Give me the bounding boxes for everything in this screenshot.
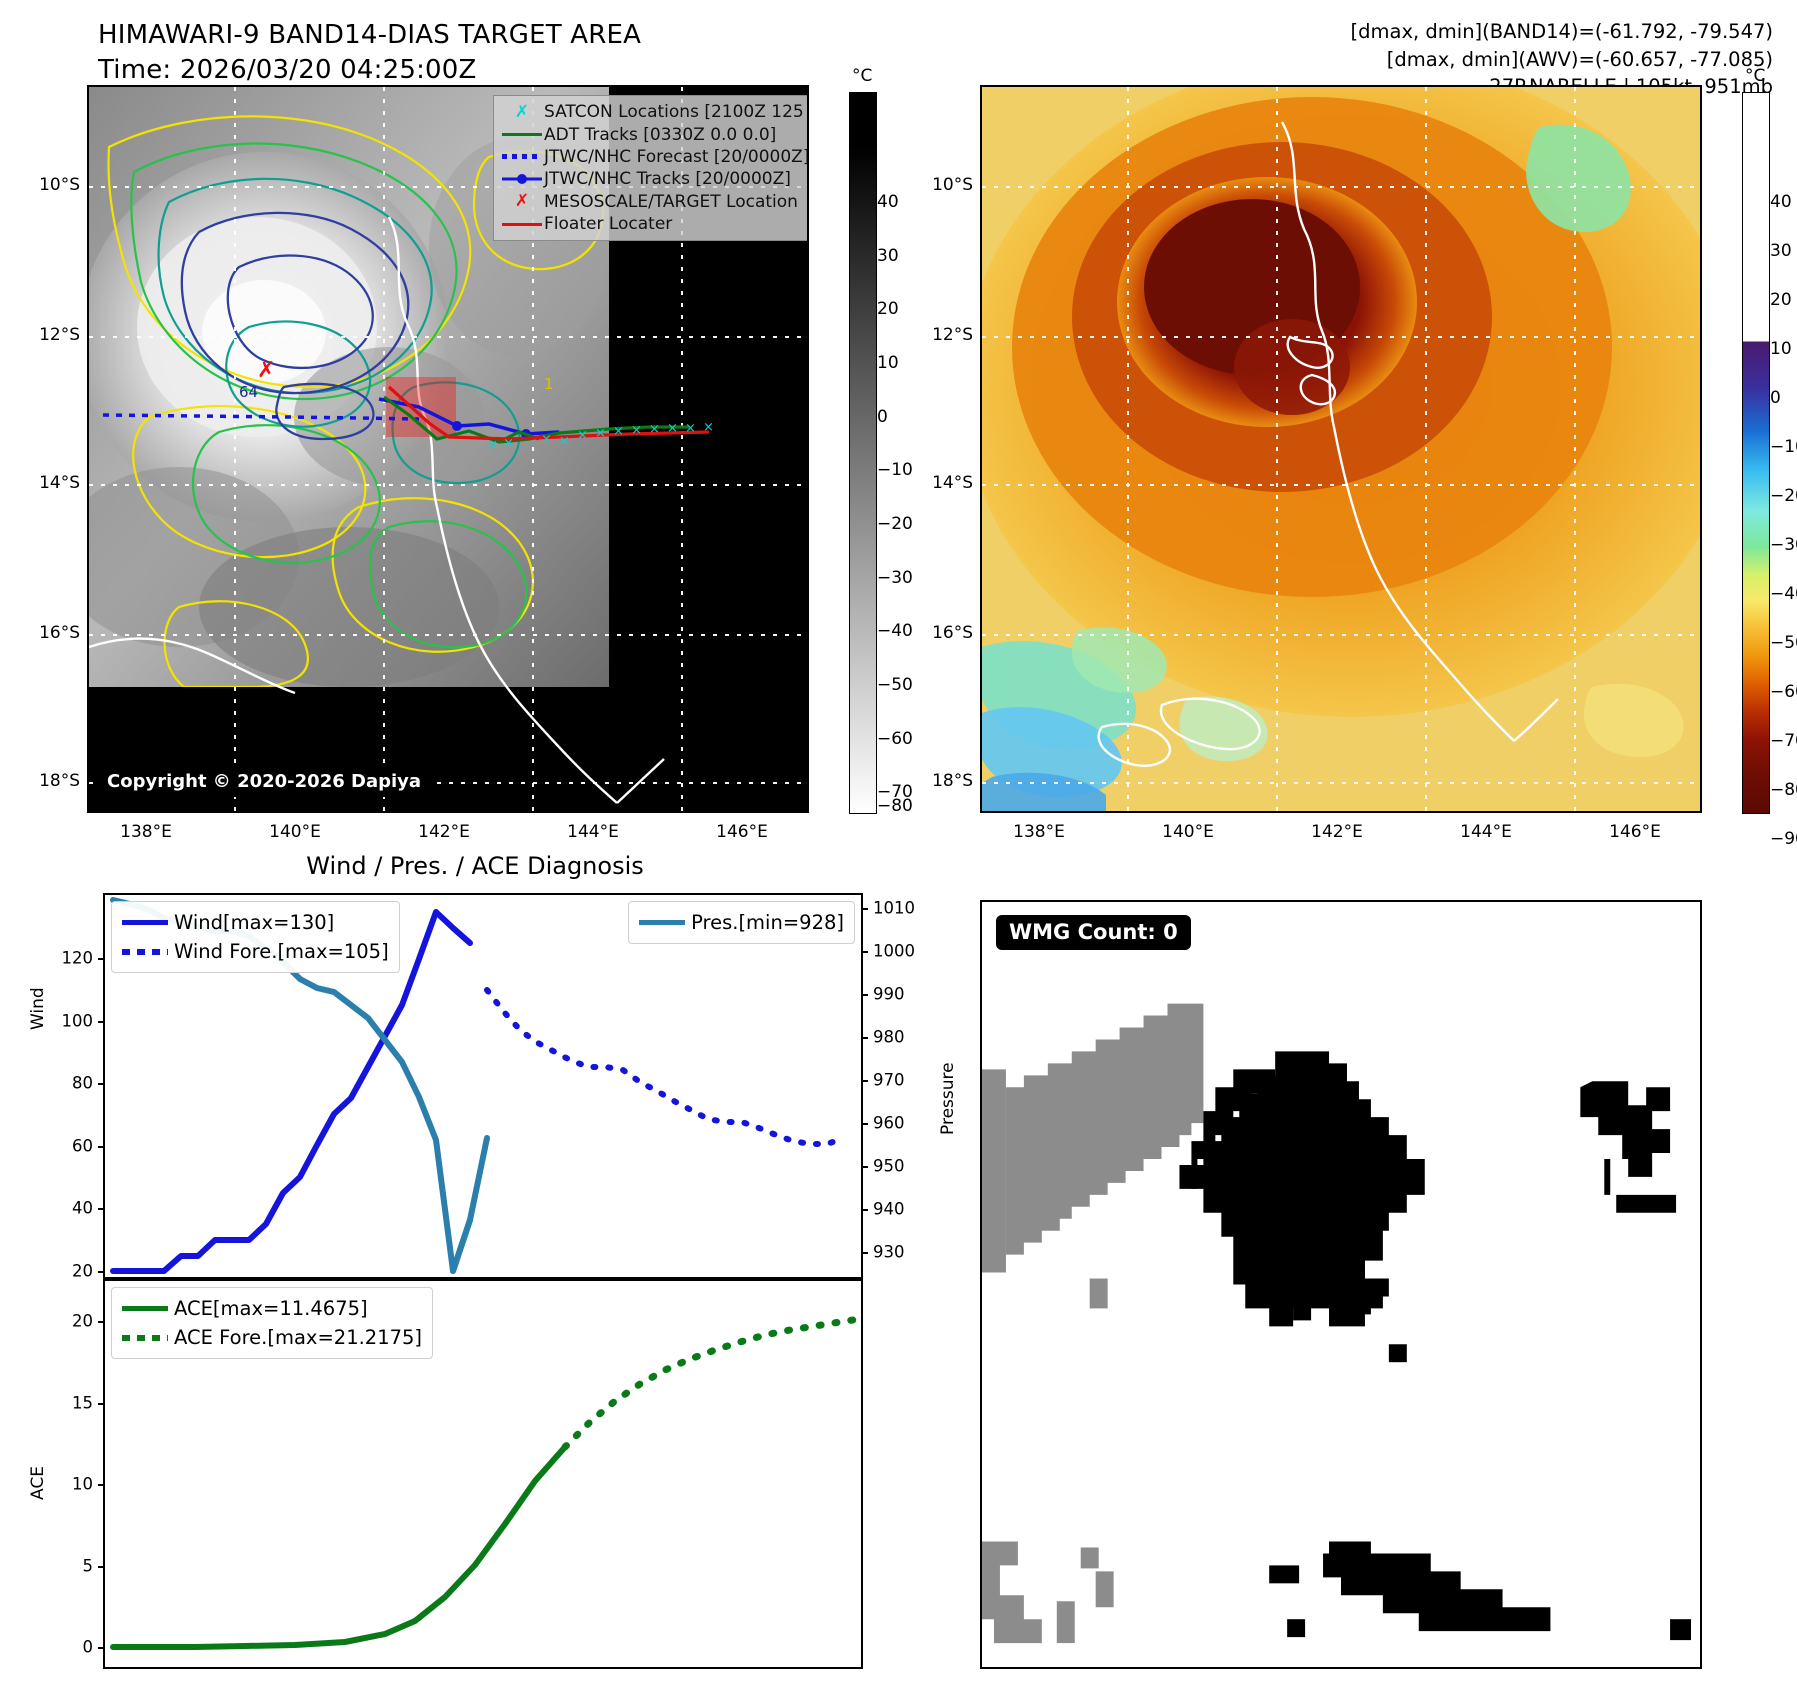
ir-satellite-panel[interactable]: 1 64 <box>87 85 809 813</box>
pressure-chart-legend: Pres.[min=928] <box>628 901 855 944</box>
y-tick: 5 <box>83 1557 94 1576</box>
copyright-badge: Copyright © 2020-2026 Dapiya <box>97 767 431 797</box>
ir-colorbar-unit: °C <box>852 66 872 86</box>
y-tick: 60 <box>72 1137 93 1156</box>
dotted-line-icon <box>500 154 544 159</box>
y-tick: 1000 <box>873 942 915 961</box>
x-tick: 142°E <box>418 822 470 842</box>
line-icon <box>500 223 544 226</box>
x-tick: 140°E <box>1162 822 1214 842</box>
svg-text:×: × <box>631 423 642 438</box>
svg-text:×: × <box>487 438 498 453</box>
wmg-binary-image <box>982 902 1700 1667</box>
y-tick: 20 <box>72 1312 93 1331</box>
line-icon <box>639 920 691 925</box>
y-tick: 1010 <box>873 899 915 918</box>
svg-text:1: 1 <box>544 375 554 393</box>
diagnosis-title: Wind / Pres. / ACE Diagnosis <box>90 852 860 880</box>
x-tick: 138°E <box>120 822 172 842</box>
stat-band14: [dmax, dmin](BAND14)=(-61.792, -79.547) <box>1351 18 1773 46</box>
x-tick: 146°E <box>716 822 768 842</box>
y-tick: 12°S <box>2 325 80 345</box>
ir-colorbar[interactable] <box>849 92 877 814</box>
wmg-binary-panel[interactable]: WMG Count: 0 <box>980 900 1702 1669</box>
colorbar-tick: −20 <box>1770 486 1797 506</box>
svg-text:×: × <box>667 421 678 436</box>
colorbar-tick: −50 <box>1770 633 1797 653</box>
stat-awv: [dmax, dmin](AWV)=(-60.657, -77.085) <box>1351 46 1773 74</box>
y-tick: 18°S <box>895 771 973 791</box>
colorbar-tick: −10 <box>1770 437 1797 457</box>
y-tick: 20 <box>72 1262 93 1281</box>
page-title: HIMAWARI-9 BAND14-DIAS TARGET AREA Time:… <box>98 18 641 87</box>
y-tick: 960 <box>873 1114 905 1133</box>
wind-pressure-chart[interactable]: Wind[max=130] Wind Fore.[max=105] Pres.[… <box>103 893 863 1279</box>
legend-item-mesoscale: ✗ MESOSCALE/TARGET Location <box>500 191 805 213</box>
legend-item-ace: ACE[max=11.4675] <box>122 1294 422 1323</box>
svg-text:×: × <box>595 426 606 441</box>
svg-text:×: × <box>649 422 660 437</box>
x-mark-icon: ✗ <box>500 104 544 121</box>
ace-axis-label: ACE <box>28 1466 48 1500</box>
line-icon <box>500 133 544 136</box>
line-icon <box>122 920 174 925</box>
ir-panel-legend: ✗ SATCON Locations [2100Z 125 935] ADT T… <box>493 95 809 241</box>
x-tick: 142°E <box>1311 822 1363 842</box>
y-tick: 0 <box>83 1638 94 1657</box>
enhanced-panel-y-axis: 10°S 12°S 14°S 16°S 18°S <box>893 85 973 813</box>
svg-text:×: × <box>503 436 514 451</box>
x-tick: 144°E <box>567 822 619 842</box>
wmg-count-badge: WMG Count: 0 <box>996 915 1191 950</box>
y-tick: 10°S <box>895 175 973 195</box>
wind-axis-label: Wind <box>28 987 48 1030</box>
legend-item-jtwc-forecast: JTWC/NHC Forecast [20/0000Z] <box>500 146 805 168</box>
colorbar-tick: −80 <box>1770 780 1797 800</box>
svg-text:×: × <box>541 432 552 447</box>
svg-text:×: × <box>685 421 696 436</box>
title-line: HIMAWARI-9 BAND14-DIAS TARGET AREA <box>98 18 641 53</box>
pressure-axis-label: Pressure <box>938 1062 958 1135</box>
y-tick: 100 <box>62 1012 94 1031</box>
colorbar-tick: 10 <box>1770 339 1792 359</box>
colorbar-tick: 40 <box>1770 192 1792 212</box>
y-tick: 40 <box>72 1199 93 1218</box>
y-tick: 14°S <box>2 473 80 493</box>
enhanced-colorbar-unit: °C <box>1745 66 1765 86</box>
legend-item-floater: Floater Locater <box>500 213 805 235</box>
dotted-line-icon <box>122 1335 174 1341</box>
x-mark-icon: ✗ <box>500 193 544 210</box>
y-tick: 980 <box>873 1028 905 1047</box>
ir-panel-y-axis: 10°S 12°S 14°S 16°S 18°S <box>0 85 80 813</box>
y-tick: 15 <box>72 1394 93 1413</box>
colorbar-tick: −70 <box>1770 731 1797 751</box>
svg-text:×: × <box>613 424 624 439</box>
y-tick: 16°S <box>2 623 80 643</box>
colorbar-tick: −90 <box>1770 829 1797 849</box>
legend-item-pressure: Pres.[min=928] <box>639 908 844 937</box>
y-tick: 990 <box>873 985 905 1004</box>
ace-chart[interactable]: ACE[max=11.4675] ACE Fore.[max=21.2175] … <box>103 1279 863 1669</box>
enhanced-ir-image <box>982 87 1700 811</box>
enhanced-colorbar[interactable] <box>1742 92 1770 814</box>
time-line: Time: 2026/03/20 04:25:00Z <box>98 53 641 88</box>
ace-chart-legend: ACE[max=11.4675] ACE Fore.[max=21.2175] <box>111 1287 433 1359</box>
y-tick: 940 <box>873 1200 905 1219</box>
colorbar-tick: 0 <box>1770 388 1781 408</box>
y-tick: 12°S <box>895 325 973 345</box>
y-tick: 930 <box>873 1243 905 1262</box>
svg-text:×: × <box>559 434 570 449</box>
svg-text:64: 64 <box>239 383 258 401</box>
line-icon <box>122 1306 174 1311</box>
y-tick: 16°S <box>895 623 973 643</box>
legend-item-jtwc-tracks: JTWC/NHC Tracks [20/0000Z] <box>500 168 805 190</box>
x-tick: 146°E <box>1609 822 1661 842</box>
wind-chart-legend: Wind[max=130] Wind Fore.[max=105] <box>111 901 400 973</box>
svg-text:×: × <box>577 428 588 443</box>
enhanced-ir-panel[interactable] <box>980 85 1702 813</box>
y-tick: 970 <box>873 1071 905 1090</box>
ir-panel-x-axis: 138°E 140°E 142°E 144°E 146°E <box>87 822 809 848</box>
y-tick: 10°S <box>2 175 80 195</box>
colorbar-tick: 30 <box>1770 241 1792 261</box>
enhanced-panel-x-axis: 138°E 140°E 142°E 144°E 146°E <box>980 822 1702 848</box>
x-tick: 140°E <box>269 822 321 842</box>
enhanced-colorbar-ticks: 40 30 20 10 0 −10 −20 −30 −40 −50 −60 −7… <box>1770 92 1797 814</box>
x-tick: 144°E <box>1460 822 1512 842</box>
y-tick: 950 <box>873 1157 905 1176</box>
colorbar-tick: 0 <box>877 407 888 427</box>
svg-text:×: × <box>703 420 714 435</box>
legend-item-satcon: ✗ SATCON Locations [2100Z 125 935] <box>500 101 805 123</box>
legend-item-wind-forecast: Wind Fore.[max=105] <box>122 937 389 966</box>
legend-item-ace-forecast: ACE Fore.[max=21.2175] <box>122 1323 422 1352</box>
y-tick: 18°S <box>2 771 80 791</box>
colorbar-tick: −60 <box>1770 682 1797 702</box>
legend-item-wind: Wind[max=130] <box>122 908 389 937</box>
x-tick: 138°E <box>1013 822 1065 842</box>
y-tick: 80 <box>72 1074 93 1093</box>
colorbar-tick: 20 <box>1770 290 1792 310</box>
colorbar-tick: −30 <box>1770 535 1797 555</box>
colorbar-tick: −40 <box>1770 584 1797 604</box>
y-tick: 10 <box>72 1475 93 1494</box>
mesoscale-target-marker: ✗ <box>257 358 275 383</box>
legend-item-adt: ADT Tracks [0330Z 0.0 0.0] <box>500 123 805 145</box>
dotted-line-icon <box>122 949 174 955</box>
y-tick: 14°S <box>895 473 973 493</box>
line-dot-icon <box>500 173 544 185</box>
y-tick: 120 <box>62 949 94 968</box>
